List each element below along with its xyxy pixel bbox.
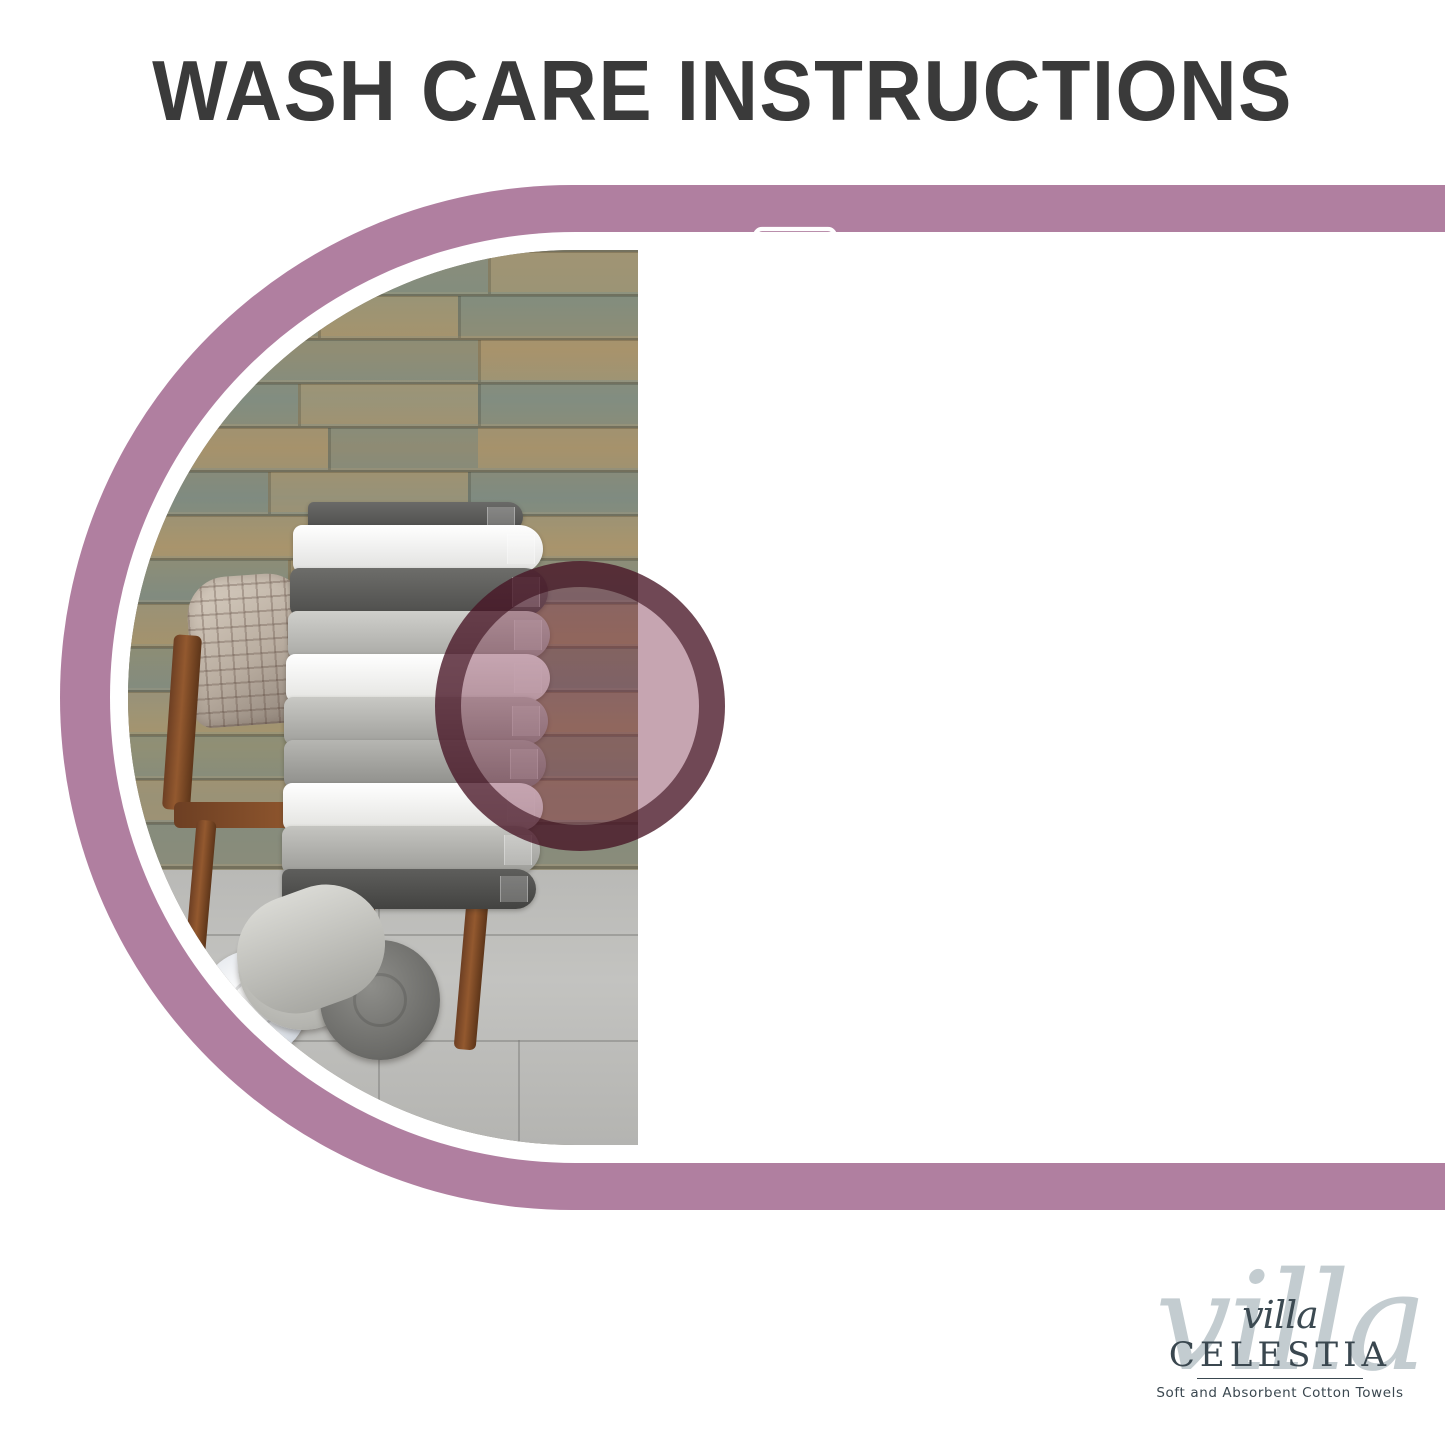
instruction-row-wash-before-first-use: Wash Before First Use xyxy=(725,196,1373,362)
machine-wash-cold-icon xyxy=(725,561,865,661)
instruction-row-do-not-bleach: Do Not Bleach xyxy=(725,860,1373,1026)
instruction-label: Do Not Iron xyxy=(865,1085,1145,1134)
instruction-label: Machine Wash Cold xyxy=(865,587,1302,636)
instruction-list: Wash Before First Use Wash Dark Colors S… xyxy=(725,196,1373,1196)
brand-logo: villa villa CELESTIA Soft and Absorbent … xyxy=(1155,1262,1405,1427)
instruction-label: Wash Before First Use xyxy=(865,230,1171,328)
washing-machine-icon xyxy=(725,225,865,333)
wash-basin-crossed-icon xyxy=(725,392,865,498)
instruction-row-wash-dark-colors-separately: Wash Dark Colors Separately xyxy=(725,362,1373,528)
instruction-row-do-not-iron: Do Not Iron xyxy=(725,1026,1373,1192)
wash-care-instructions-graphic: WASH CARE INSTRUCTIONS xyxy=(0,0,1445,1445)
accent-circle xyxy=(435,561,725,851)
folded-towel xyxy=(282,826,540,874)
instruction-label: Tumble Dry With Low Heat xyxy=(865,728,1202,826)
page-title: WASH CARE INSTRUCTIONS xyxy=(43,44,1401,140)
logo-name-celestia: CELESTIA xyxy=(1155,1336,1405,1374)
instruction-label: Do Not Bleach xyxy=(865,919,1200,968)
instruction-label: Wash Dark Colors Separately xyxy=(865,396,1262,494)
logo-script-villa: villa xyxy=(1155,1294,1405,1336)
logo-tagline: Soft and Absorbent Cotton Towels xyxy=(1155,1384,1405,1402)
do-not-iron-icon xyxy=(725,1057,865,1161)
logo-divider xyxy=(1197,1378,1363,1379)
instruction-row-tumble-dry-with-low-heat: Tumble Dry With Low Heat xyxy=(725,694,1373,860)
folded-towel xyxy=(293,525,543,573)
tumble-dry-low-icon xyxy=(725,725,865,829)
do-not-bleach-icon xyxy=(725,891,865,995)
instruction-row-machine-wash-cold: Machine Wash Cold xyxy=(725,528,1373,694)
